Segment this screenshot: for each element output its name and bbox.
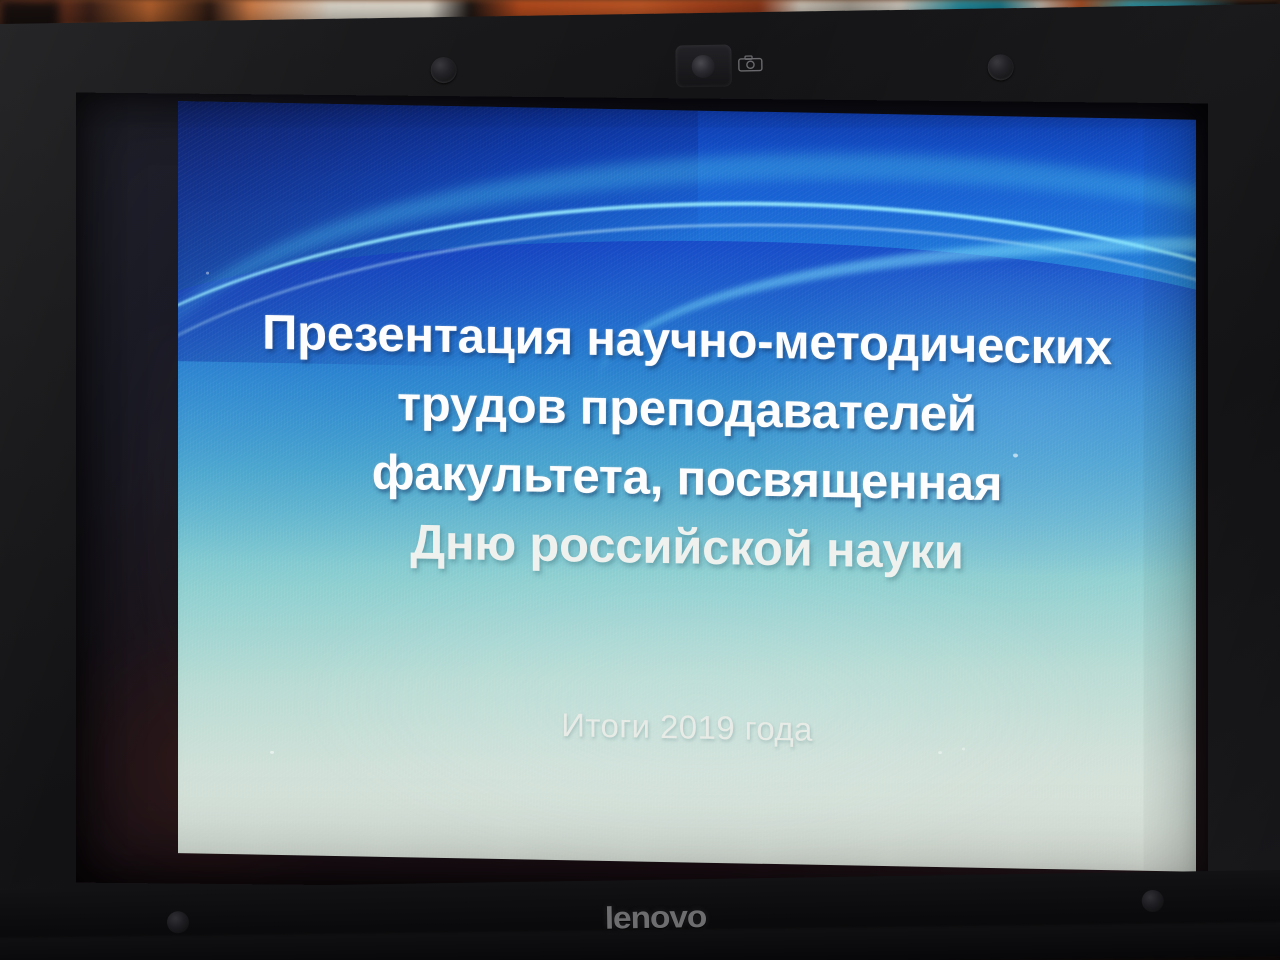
webcam-housing <box>675 45 732 88</box>
webcam-lens-icon <box>691 55 714 78</box>
bezel-bumper-left <box>167 911 189 933</box>
slide-title-block: Презентация научно-методических трудов п… <box>178 297 1196 592</box>
presentation-slide[interactable]: Презентация научно-методических трудов п… <box>178 101 1196 872</box>
photo-scene: Презентация научно-методических трудов п… <box>0 0 1280 960</box>
camera-icon <box>737 54 763 72</box>
bezel-bumper-right <box>1142 890 1164 912</box>
laptop-screen[interactable]: Презентация научно-методических трудов п… <box>76 93 1208 894</box>
